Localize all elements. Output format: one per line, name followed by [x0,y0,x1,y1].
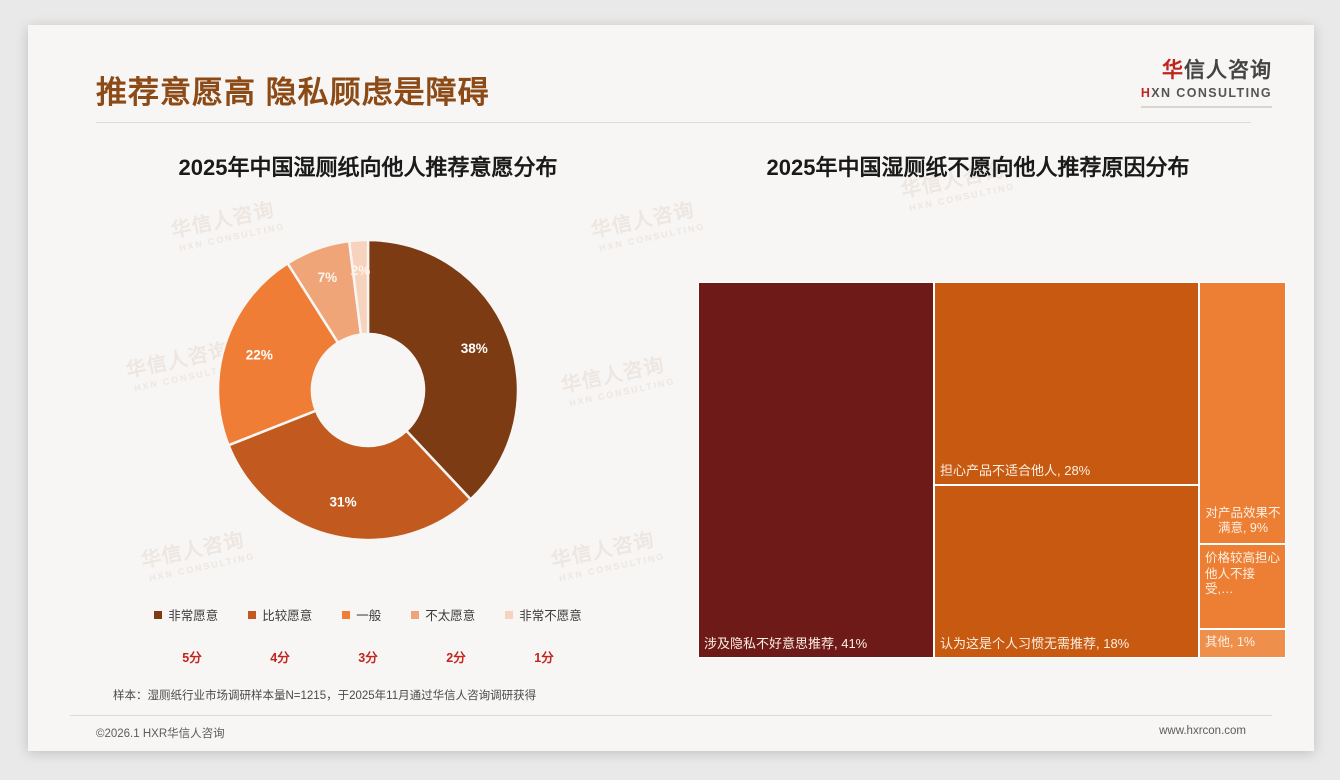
treemap-cell[interactable]: 认为这是个人习惯无需推荐, 18% [934,485,1199,658]
legend-item[interactable]: 非常不愿意 [505,605,582,624]
legend-item[interactable]: 非常愿意 [154,605,218,624]
company-logo: 华信人咨询 HXN CONSULTING [1141,54,1272,108]
treemap-title: 2025年中国湿厕纸不愿向他人推荐原因分布 [678,150,1278,182]
treemap-panel: 2025年中国湿厕纸不愿向他人推荐原因分布 涉及隐私不好意思推荐, 41%担心产… [678,150,1278,680]
donut-svg: 38%31%22%7%2% [218,240,518,540]
score-label: 3分 [351,647,385,666]
slide-footer: ©2026.1 HXR华信人咨询 www.hxrcon.com [28,720,1314,751]
logo-english: HXN CONSULTING [1141,86,1272,100]
score-label: 1分 [527,647,561,666]
legend-item-label: 非常愿意 [168,605,218,624]
slide: 华信人咨询 HXN CONSULTING 华信人咨询 HXN CONSULTIN… [28,25,1314,751]
page-title: 推荐意愿高 隐私顾虑是障碍 [96,67,490,112]
donut-slice-label: 22% [246,348,273,363]
legend-item-label: 非常不愿意 [519,605,582,624]
logo-chinese: 华信人咨询 [1141,54,1272,84]
legend-swatch-icon [248,611,256,619]
logo-english-rest: XN CONSULTING [1151,86,1272,100]
legend-swatch-icon [505,611,513,619]
treemap-cell-label: 认为这是个人习惯无需推荐, 18% [940,636,1194,652]
score-label: 5分 [175,647,209,666]
donut-slice-label: 7% [318,270,338,285]
legend-item-label: 一般 [356,605,381,624]
website-url[interactable]: www.hxrcon.com [1159,725,1246,737]
legend-item[interactable]: 比较愿意 [248,605,312,624]
donut-legend: 非常愿意比较愿意一般不太愿意非常不愿意 [68,605,668,624]
donut-chart-panel: 2025年中国湿厕纸向他人推荐意愿分布 38%31%22%7%2% 非常愿意比较… [68,150,668,680]
donut-chart-title: 2025年中国湿厕纸向他人推荐意愿分布 [68,150,668,182]
score-label: 2分 [439,647,473,666]
treemap-cell-label: 价格较高担心他人不接受,… [1205,551,1281,598]
legend-item[interactable]: 不太愿意 [411,605,475,624]
logo-english-accent: H [1141,86,1151,100]
donut-slice-label: 38% [461,341,488,356]
legend-item[interactable]: 一般 [342,605,381,624]
treemap-cell-label: 涉及隐私不好意思推荐, 41% [704,636,929,652]
logo-chinese-accent: 华 [1162,59,1184,82]
treemap-cell-label: 对产品效果不满意, 9% [1205,506,1281,537]
header-divider [96,122,1251,123]
treemap-chart: 涉及隐私不好意思推荐, 41%担心产品不适合他人, 28%认为这是个人习惯无需推… [698,282,1286,658]
donut-chart: 38%31%22%7%2% [218,240,518,540]
legend-swatch-icon [411,611,419,619]
treemap-cell[interactable]: 其他, 1% [1199,629,1286,658]
score-label-row: 5分4分3分2分1分 [68,647,668,666]
treemap-cell[interactable]: 涉及隐私不好意思推荐, 41% [698,282,934,658]
score-label: 4分 [263,647,297,666]
logo-chinese-rest: 信人咨询 [1184,59,1272,82]
legend-item-label: 不太愿意 [425,605,475,624]
source-note: 样本：湿厕纸行业市场调研样本量N=1215，于2025年11月通过华信人咨询调研… [113,687,536,703]
footer-divider [70,715,1272,716]
treemap-cell-label: 担心产品不适合他人, 28% [940,463,1194,479]
legend-item-label: 比较愿意 [262,605,312,624]
legend-swatch-icon [154,611,162,619]
donut-slice-label: 2% [351,263,371,278]
logo-underline [1141,106,1272,108]
treemap-cell[interactable]: 担心产品不适合他人, 28% [934,282,1199,485]
treemap-cell-label: 其他, 1% [1205,635,1281,651]
treemap-cell[interactable]: 价格较高担心他人不接受,… [1199,544,1286,629]
donut-slice-label: 31% [330,495,357,510]
slide-header: 推荐意愿高 隐私顾虑是障碍 华信人咨询 HXN CONSULTING [28,25,1314,117]
treemap-cell[interactable]: 对产品效果不满意, 9% [1199,282,1286,544]
legend-swatch-icon [342,611,350,619]
copyright-text: ©2026.1 HXR华信人咨询 [96,725,225,741]
